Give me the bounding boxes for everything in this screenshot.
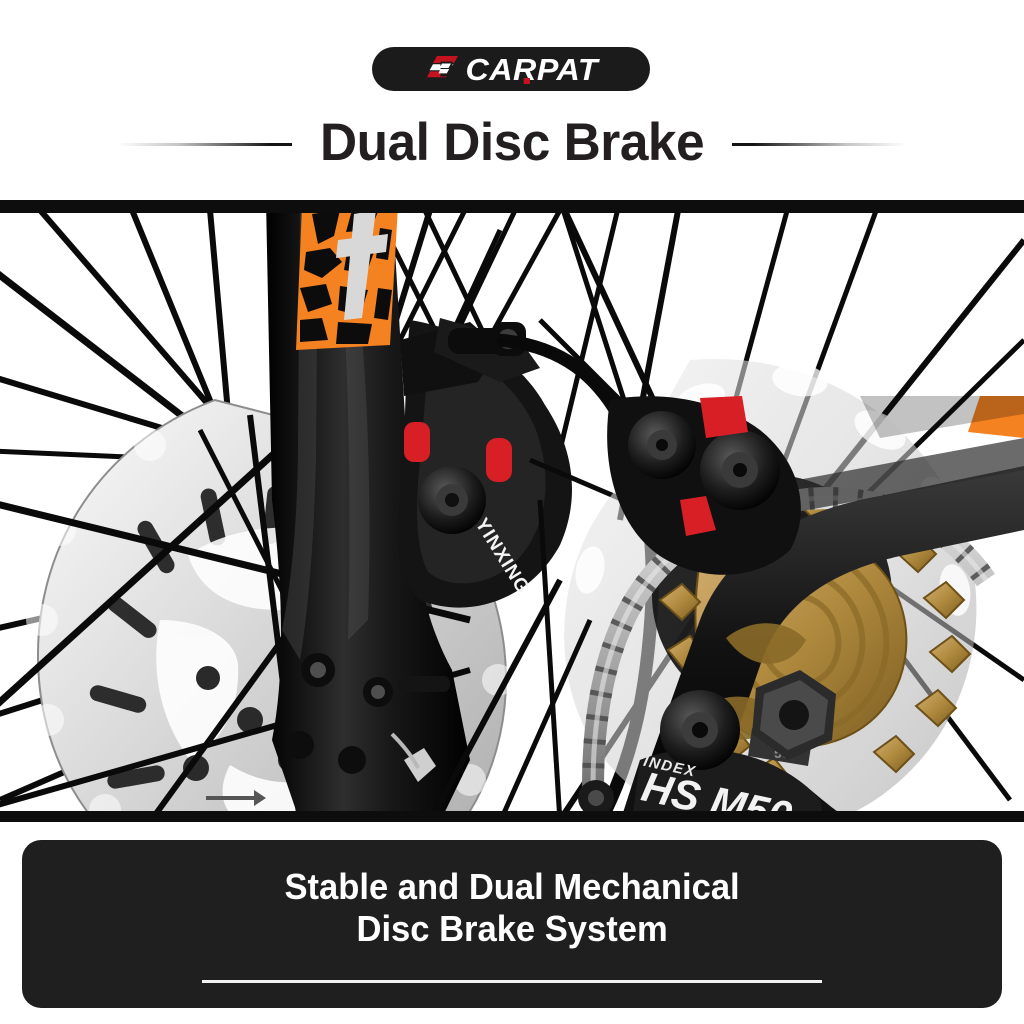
- brand-logo-pill: CARPAT: [372, 47, 650, 91]
- page-title-row: Dual Disc Brake: [0, 104, 1024, 180]
- brand-name: CARPAT: [465, 54, 598, 85]
- title-rule-right-icon: [732, 143, 907, 146]
- caption-underline: [202, 980, 822, 983]
- header: CARPAT Dual Disc Brake: [0, 0, 1024, 200]
- title-rule-left-icon: [117, 143, 292, 146]
- caption-line-1: Stable and Dual Mechanical: [284, 866, 739, 908]
- photo-band-top: [0, 200, 1024, 213]
- photo-band-bottom: [0, 811, 1024, 822]
- fork-decal: [296, 206, 398, 350]
- brand-accent-dot: [524, 78, 530, 84]
- product-photo: YINXING: [0, 200, 1024, 822]
- carpat-arrow-mark-icon: [427, 56, 461, 82]
- disc-brake-illustration: YINXING: [0, 200, 1024, 822]
- caption-line-2: Disc Brake System: [356, 908, 667, 950]
- caption-card: Stable and Dual Mechanical Disc Brake Sy…: [22, 840, 1002, 1008]
- page-title: Dual Disc Brake: [320, 116, 704, 169]
